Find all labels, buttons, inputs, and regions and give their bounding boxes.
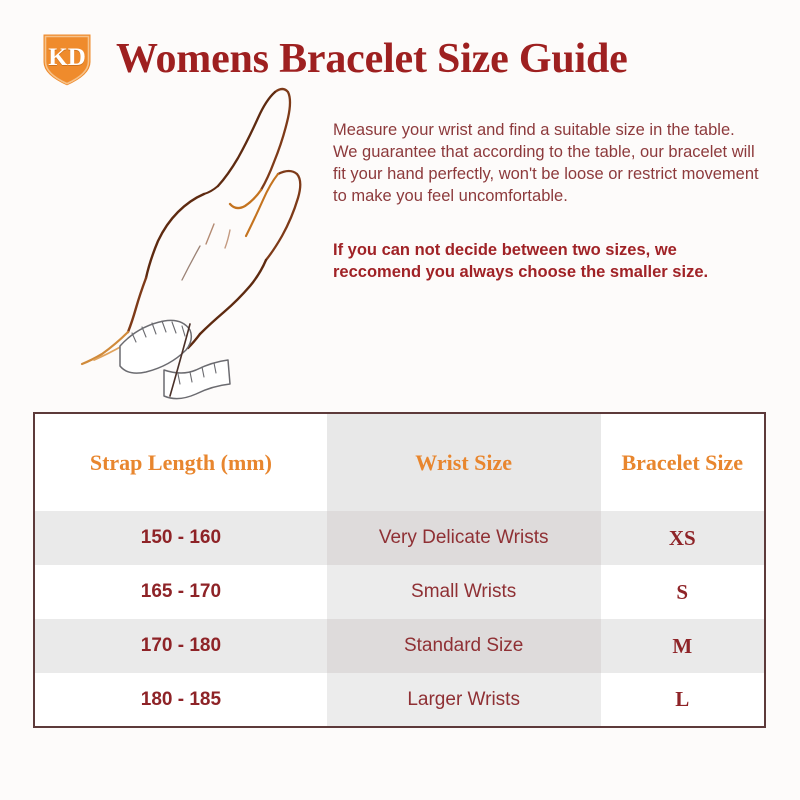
size-chart-table: Strap Length (mm) Wrist Size Bracelet Si… bbox=[33, 412, 766, 728]
cell-wrist-size: Very Delicate Wrists bbox=[327, 511, 601, 565]
cell-bracelet-size: M bbox=[601, 619, 765, 673]
column-header-bracelet-size: Bracelet Size bbox=[601, 413, 765, 511]
cell-bracelet-size: XS bbox=[601, 511, 765, 565]
cell-bracelet-size: L bbox=[601, 673, 765, 727]
table-row: 170 - 180 Standard Size M bbox=[34, 619, 765, 673]
cell-strap-length: 165 - 170 bbox=[34, 565, 327, 619]
brand-logo-text: KD bbox=[48, 45, 86, 70]
table-header: Strap Length (mm) Wrist Size Bracelet Si… bbox=[34, 413, 765, 511]
cell-strap-length: 180 - 185 bbox=[34, 673, 327, 727]
copy-paragraph-1: Measure your wrist and find a suitable s… bbox=[333, 120, 765, 142]
copy-note: If you can not decide between two sizes,… bbox=[333, 240, 765, 284]
cell-strap-length: 150 - 160 bbox=[34, 511, 327, 565]
intro-copy: Measure your wrist and find a suitable s… bbox=[333, 120, 765, 284]
cell-strap-length: 170 - 180 bbox=[34, 619, 327, 673]
column-header-wrist-size: Wrist Size bbox=[327, 413, 601, 511]
column-header-strap-length: Strap Length (mm) bbox=[34, 413, 327, 511]
cell-wrist-size: Larger Wrists bbox=[327, 673, 601, 727]
table-row: 150 - 160 Very Delicate Wrists XS bbox=[34, 511, 765, 565]
cell-bracelet-size: S bbox=[601, 565, 765, 619]
table-row: 180 - 185 Larger Wrists L bbox=[34, 673, 765, 727]
cell-wrist-size: Standard Size bbox=[327, 619, 601, 673]
cell-wrist-size: Small Wrists bbox=[327, 565, 601, 619]
copy-paragraph-2: We guarantee that according to the table… bbox=[333, 142, 765, 208]
table-row: 165 - 170 Small Wrists S bbox=[34, 565, 765, 619]
size-guide-page: KD Womens Bracelet Size Guide bbox=[0, 0, 800, 800]
table-header-row: Strap Length (mm) Wrist Size Bracelet Si… bbox=[34, 413, 765, 511]
hand-with-measuring-tape-illustration bbox=[78, 78, 333, 403]
table-body: 150 - 160 Very Delicate Wrists XS 165 - … bbox=[34, 511, 765, 727]
page-title: Womens Bracelet Size Guide bbox=[116, 35, 628, 83]
